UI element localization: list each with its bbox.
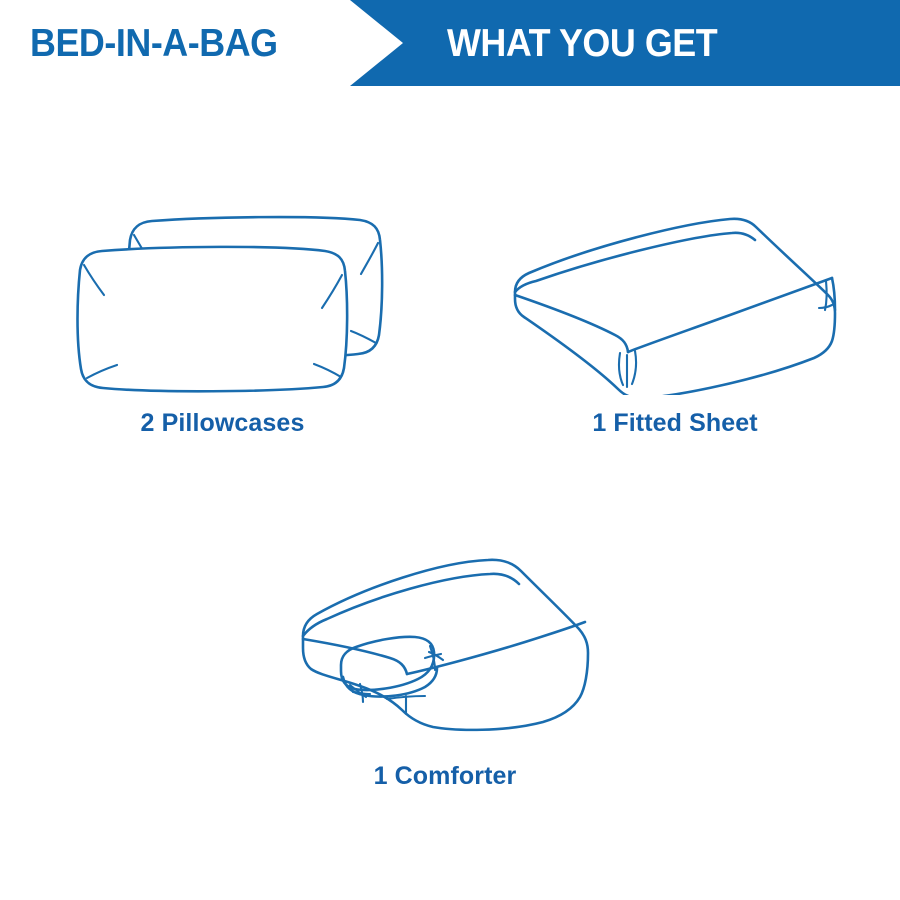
item-comforter-caption: 1 Comforter [255,762,635,791]
banner-right-title: WHAT YOU GET [447,22,717,66]
banner-left-title: BED-IN-A-BAG [30,22,278,66]
pillowcases-icon [35,195,410,395]
item-pillowcases-caption: 2 Pillowcases [35,409,410,438]
item-pillowcases: 2 Pillowcases [35,195,410,438]
comforter-icon [255,540,635,740]
item-comforter: 1 Comforter [255,540,635,791]
item-fitted-sheet-caption: 1 Fitted Sheet [480,409,870,438]
fitted-sheet-icon [480,195,870,395]
header-banner: BED-IN-A-BAG WHAT YOU GET [0,0,900,86]
item-fitted-sheet: 1 Fitted Sheet [480,195,870,438]
